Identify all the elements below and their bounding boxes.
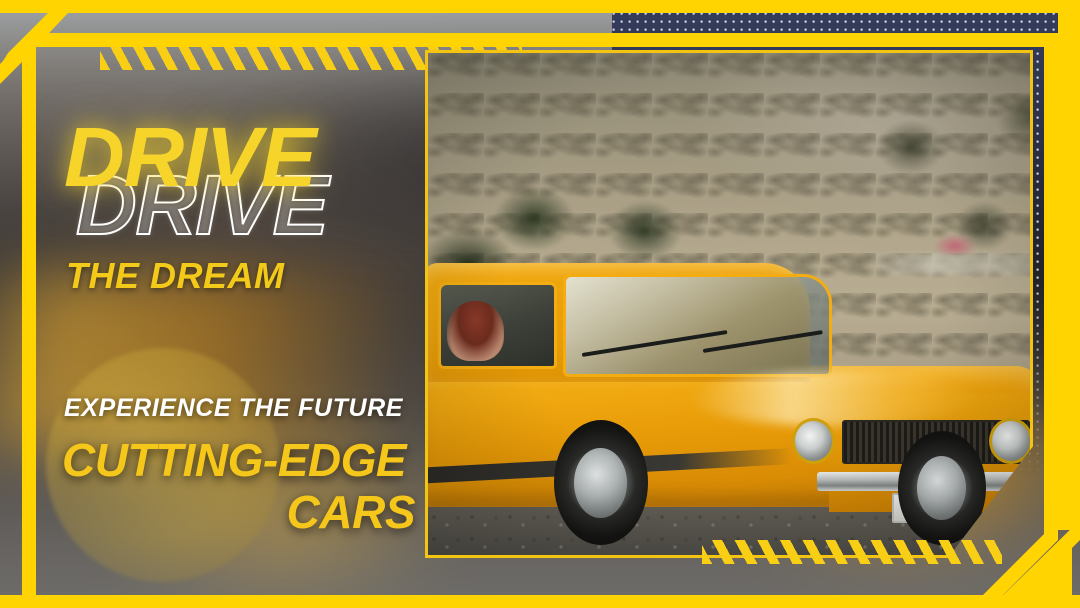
feature-line-two: CARS bbox=[0, 489, 415, 535]
hero-photo-scene bbox=[428, 53, 1030, 555]
headline-fill-text: DRIVE bbox=[64, 115, 316, 199]
kicker-text: EXPERIENCE THE FUTURE bbox=[64, 396, 403, 421]
headline-group: DRIVE DRIVE bbox=[64, 115, 424, 255]
copy-block: DRIVE DRIVE THE DREAM EXPERIENCE THE FUT… bbox=[0, 0, 425, 608]
poster-canvas: DRIVE DRIVE THE DREAM EXPERIENCE THE FUT… bbox=[0, 0, 1080, 608]
hero-photo bbox=[425, 50, 1033, 558]
headline-subtitle: THE DREAM bbox=[66, 258, 285, 294]
photo-vignette bbox=[428, 53, 1030, 555]
feature-line-one: CUTTING-EDGE bbox=[62, 437, 406, 483]
diagonal-stripes-bottom bbox=[702, 540, 1002, 564]
